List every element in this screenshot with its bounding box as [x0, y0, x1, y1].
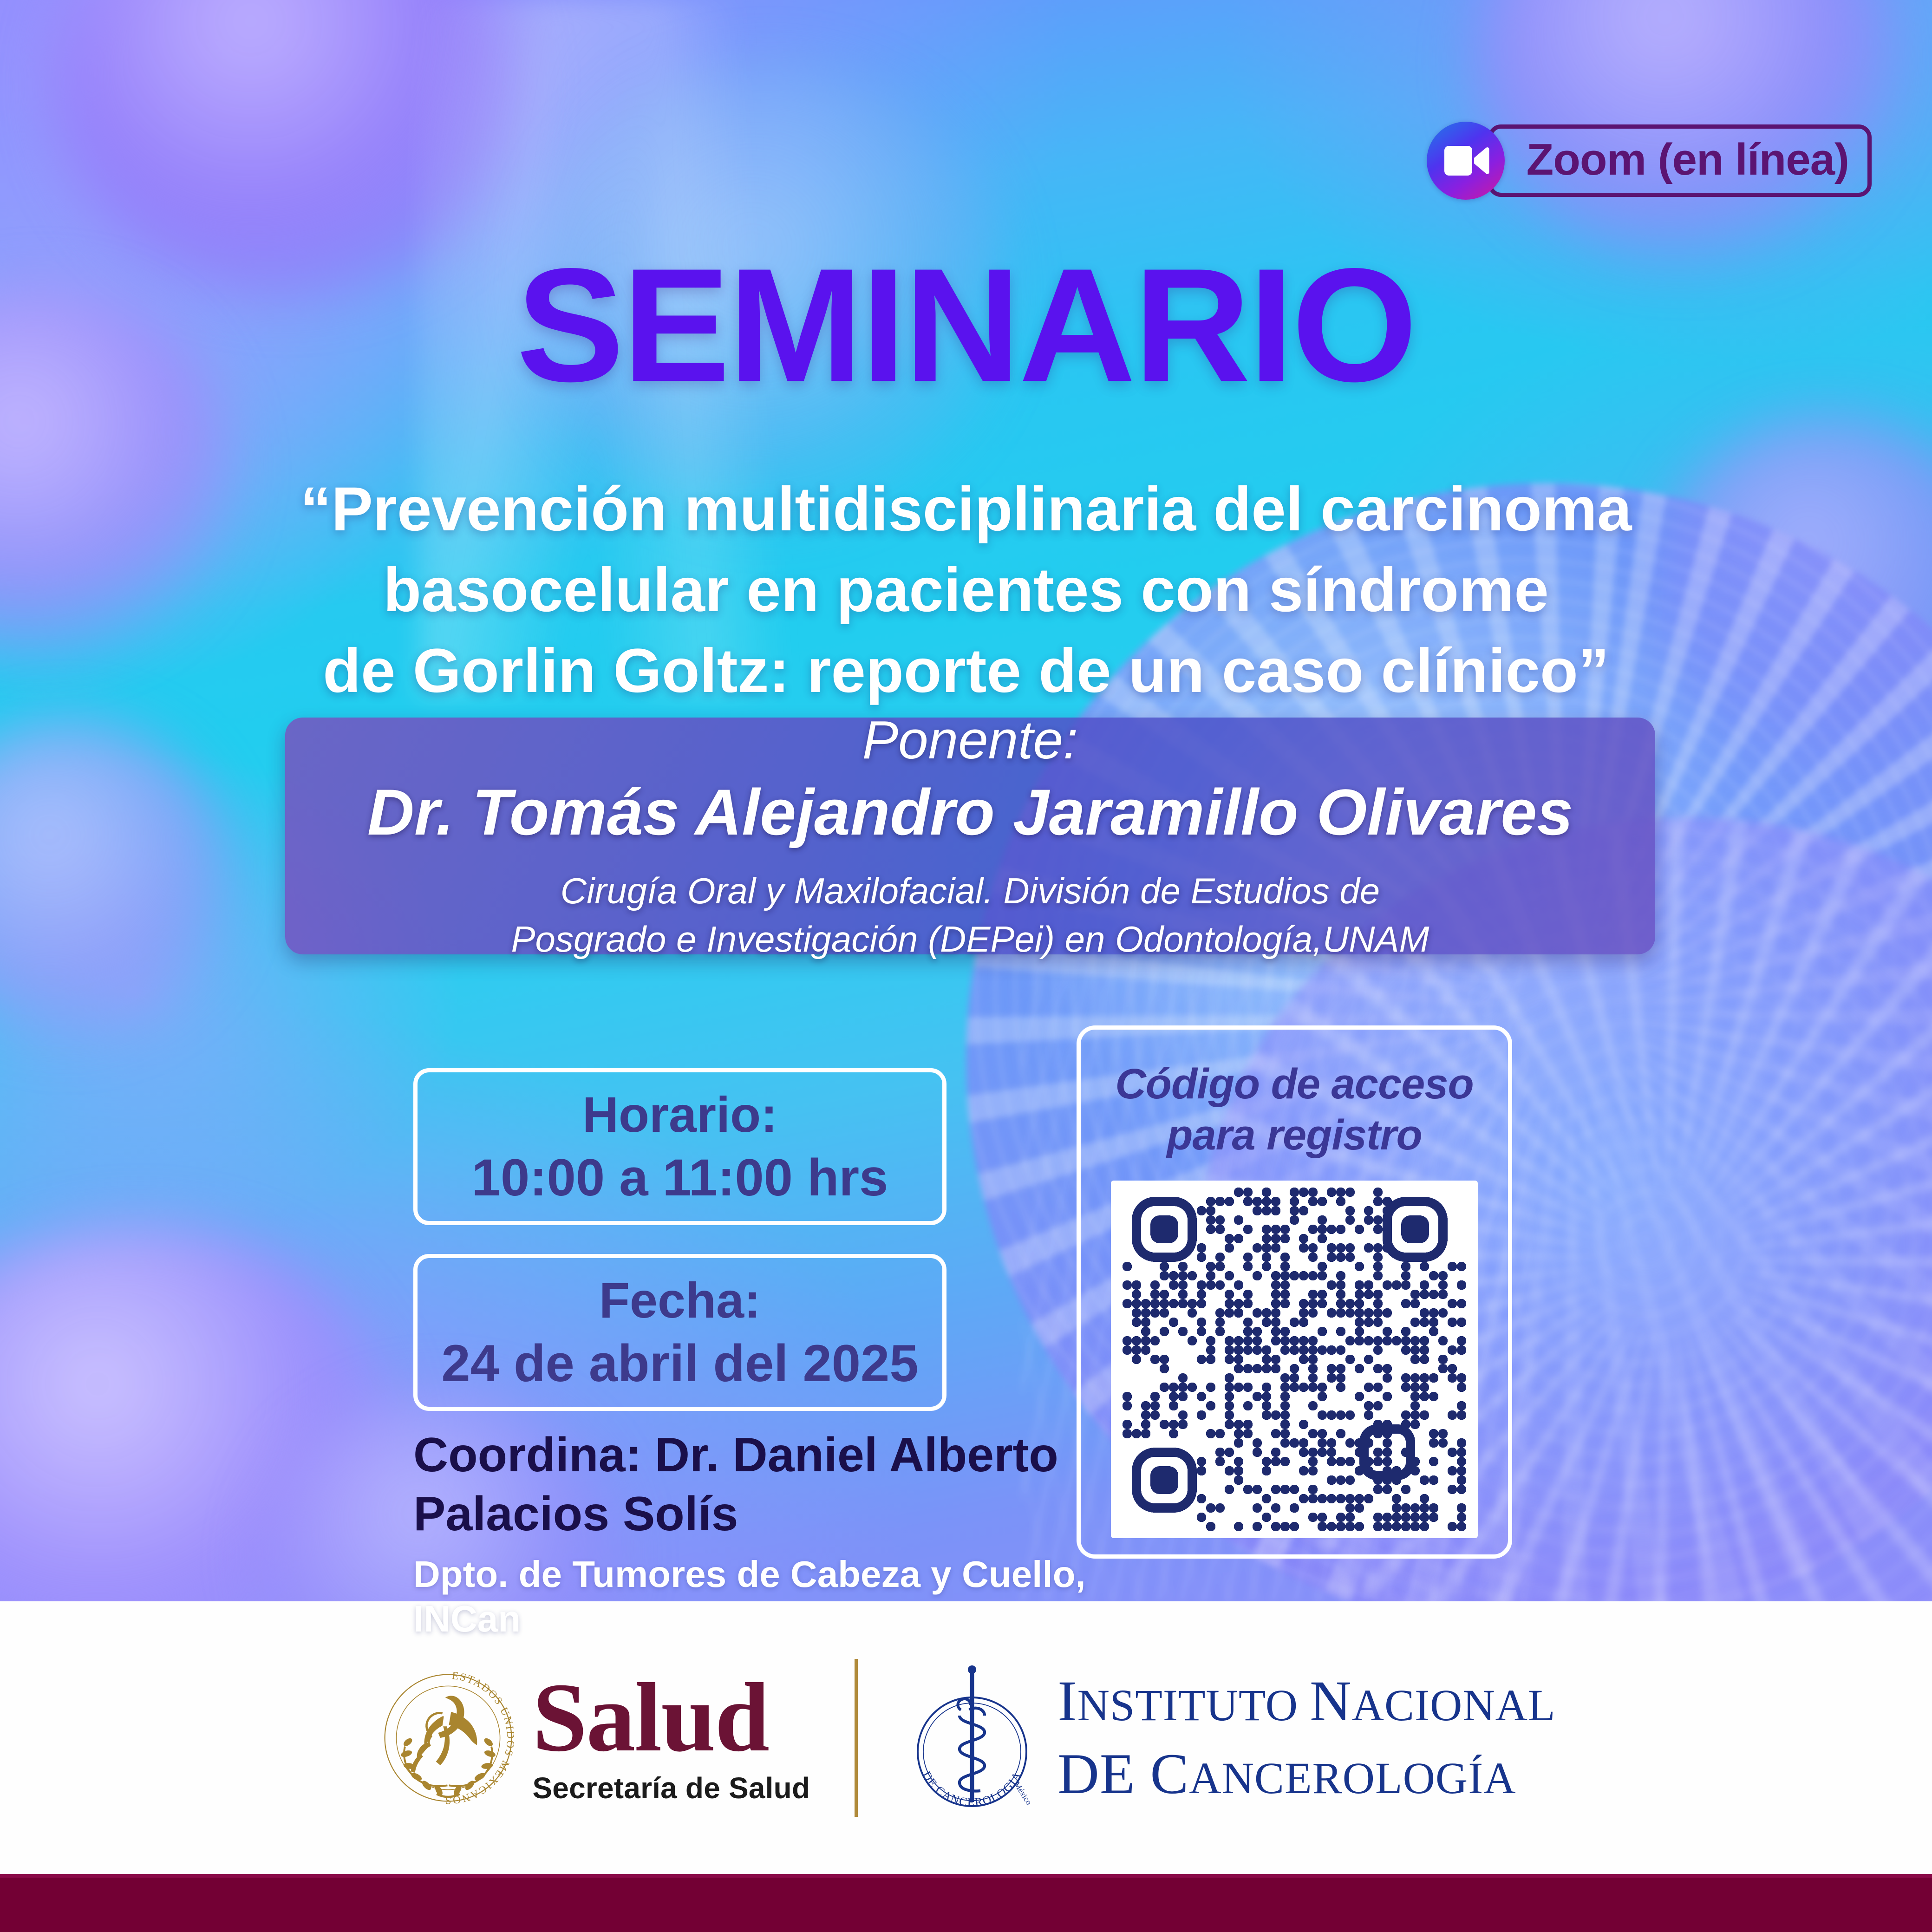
coordinator-department: Dpto. de Tumores de Cabeza y Cuello, INC… — [413, 1552, 1110, 1641]
subtitle-line-3: de Gorlin Goltz: reporte de un caso clín… — [0, 631, 1932, 711]
qr-heading-line-2: para registro — [1081, 1110, 1508, 1161]
coordinator-block: Coordina: Dr. Daniel Alberto Palacios So… — [413, 1426, 1110, 1641]
secretaria-de-salud-logo: ESTADOS UNIDOS MEXICANOS — [376, 1666, 810, 1810]
speaker-affiliation-line-2: Posgrado e Investigación (DEPei) en Odon… — [511, 915, 1429, 964]
mexican-eagle-seal-icon: ESTADOS UNIDOS MEXICANOS — [376, 1666, 520, 1810]
svg-text:México: México — [1012, 1780, 1034, 1806]
institutional-footer: ESTADOS UNIDOS MEXICANOS — [0, 1601, 1932, 1874]
qr-heading-line-1: Código de acceso — [1081, 1058, 1508, 1110]
speaker-affiliation-line-1: Cirugía Oral y Maxilofacial. División de… — [561, 867, 1380, 915]
speaker-name: Dr. Tomás Alejandro Jaramillo Olivares — [367, 774, 1573, 850]
qr-panel-heading: Código de acceso para registro — [1081, 1058, 1508, 1161]
date-label: Fecha: — [599, 1269, 761, 1332]
coordinator-name-line-2: Palacios Solís — [413, 1485, 1110, 1544]
speaker-label: Ponente: — [862, 708, 1078, 772]
subtitle-line-1: “Prevención multidisciplinaria del carci… — [0, 469, 1932, 550]
date-box: Fecha: 24 de abril del 2025 — [413, 1254, 946, 1411]
subtitle-line-2: basocelular en pacientes con síndrome — [0, 550, 1932, 631]
svg-text:INSTITUTO NACIONAL: INSTITUTO NACIONAL — [902, 1661, 907, 1664]
incan-logo: INSTITUTO NACIONAL DE CANCEROLOGIA Méxic… — [902, 1661, 1555, 1815]
registration-qr-panel[interactable]: Código de acceso para registro — [1077, 1025, 1512, 1559]
schedule-label: Horario: — [582, 1083, 777, 1146]
seminar-poster: Zoom (en línea) SEMINARIO “Prevención mu… — [0, 0, 1932, 1932]
coordinator-name-line-1: Coordina: Dr. Daniel Alberto — [413, 1426, 1110, 1485]
page-title: SEMINARIO — [0, 248, 1932, 402]
date-value: 24 de abril del 2025 — [441, 1332, 918, 1396]
bottom-accent-bar — [0, 1874, 1932, 1932]
incan-name-line-1: INSTITUTO NACIONAL — [1057, 1665, 1555, 1737]
incan-name-line-2: DE CANCEROLOGÍA — [1057, 1738, 1555, 1810]
schedule-value: 10:00 a 11:00 hrs — [472, 1146, 888, 1210]
seminar-subtitle: “Prevención multidisciplinaria del carci… — [0, 469, 1932, 712]
logo-row: ESTADOS UNIDOS MEXICANOS — [376, 1659, 1555, 1817]
salud-wordmark: Salud — [532, 1670, 810, 1765]
caduceus-seal-icon: INSTITUTO NACIONAL DE CANCEROLOGIA Méxic… — [902, 1661, 1042, 1815]
salud-wordmark-group: Salud Secretaría de Salud — [532, 1670, 810, 1806]
salud-subtitle: Secretaría de Salud — [532, 1771, 810, 1805]
incan-wordmark: INSTITUTO NACIONAL DE CANCEROLOGÍA — [1057, 1665, 1555, 1810]
video-camera-icon — [1427, 122, 1505, 200]
schedule-box: Horario: 10:00 a 11:00 hrs — [413, 1068, 946, 1225]
speaker-panel: Ponente: Dr. Tomás Alejandro Jaramillo O… — [285, 718, 1655, 954]
zoom-badge-label: Zoom (en línea) — [1488, 124, 1872, 197]
cell-sphere-decoration — [0, 720, 232, 1040]
zoom-online-badge[interactable]: Zoom (en línea) — [1427, 122, 1872, 200]
logo-divider — [855, 1659, 858, 1817]
qr-code-icon[interactable] — [1111, 1181, 1478, 1538]
